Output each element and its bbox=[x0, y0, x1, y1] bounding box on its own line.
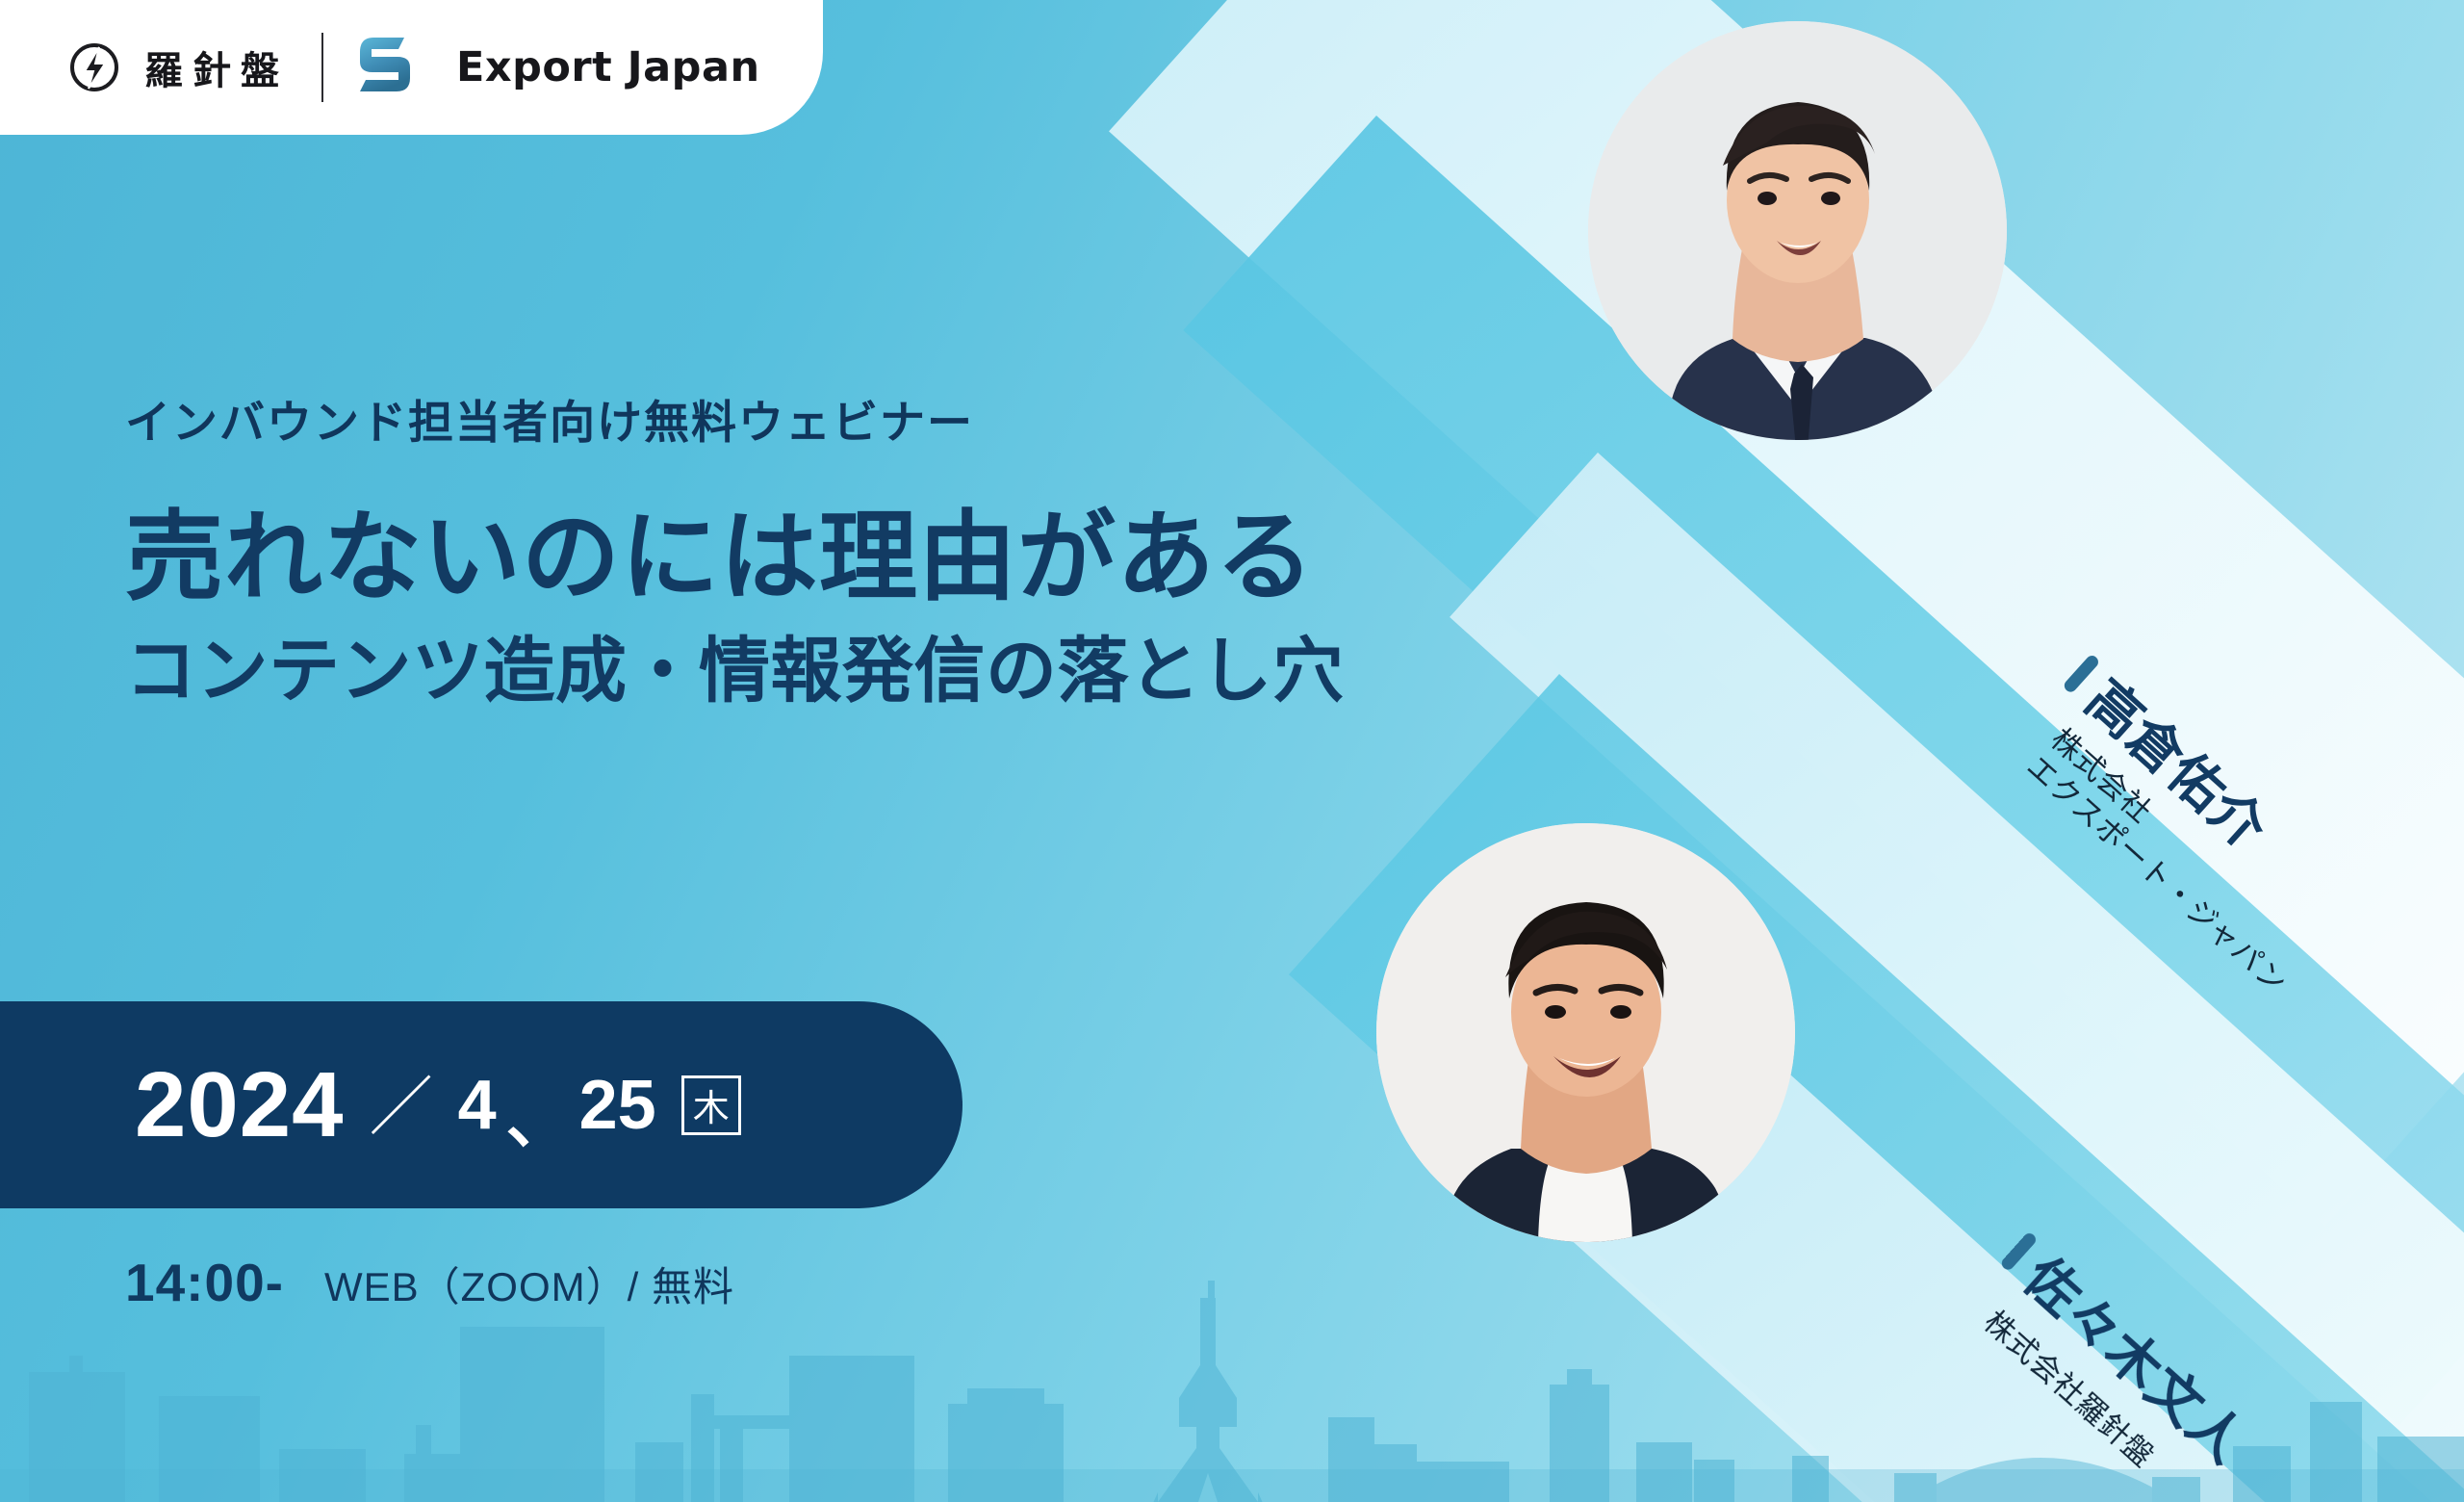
date-year: 2024 bbox=[135, 1052, 345, 1158]
date-day: 25 bbox=[579, 1066, 656, 1145]
hero-subtitle: コンテンツ造成・情報発信の落とし穴 bbox=[125, 632, 1521, 710]
date-comma: 、 bbox=[506, 1069, 570, 1161]
event-format: WEB（ZOOM）/ 無料 bbox=[324, 1255, 734, 1313]
lightning-circle-icon bbox=[69, 42, 119, 92]
logo-divider bbox=[321, 33, 323, 102]
export-japan-wordmark: Export Japan bbox=[456, 43, 760, 91]
webinar-banner: 羅針盤 Export Japan インバウンド担当者向け無料ウェビナー 売れない… bbox=[0, 0, 2464, 1502]
speaker-portrait-takakura bbox=[1588, 21, 2007, 440]
date-month: 4 bbox=[458, 1066, 497, 1145]
rashinban-logo[interactable]: 羅針盤 bbox=[69, 39, 289, 95]
rashinban-wordmark: 羅針盤 bbox=[144, 39, 289, 95]
hero-kicker: インバウンド担当者向け無料ウェビナー bbox=[125, 385, 1521, 452]
speaker-portrait-sasaki bbox=[1376, 823, 1795, 1242]
date-day-of-week: 木 bbox=[681, 1075, 741, 1135]
hero-title: 売れないのには理由がある bbox=[125, 505, 1521, 610]
speaker-tick-icon bbox=[2000, 1230, 2039, 1272]
brand-logo-plate: 羅針盤 Export Japan bbox=[0, 0, 823, 135]
event-start-time: 14:00- bbox=[125, 1252, 284, 1313]
speaker-tick-icon bbox=[2063, 653, 2101, 694]
export-japan-s-mark-icon bbox=[356, 36, 416, 99]
speaker-label-1: 高倉佑介 株式会社 エクスポート・ジャパン bbox=[1998, 640, 2374, 1001]
event-time-row: 14:00- WEB（ZOOM）/ 無料 bbox=[125, 1252, 734, 1313]
event-date-badge: 2024 ／ 4 、 25 木 bbox=[0, 1001, 962, 1208]
export-japan-logo[interactable]: Export Japan bbox=[356, 36, 760, 99]
date-separator: ／ bbox=[370, 1055, 433, 1148]
